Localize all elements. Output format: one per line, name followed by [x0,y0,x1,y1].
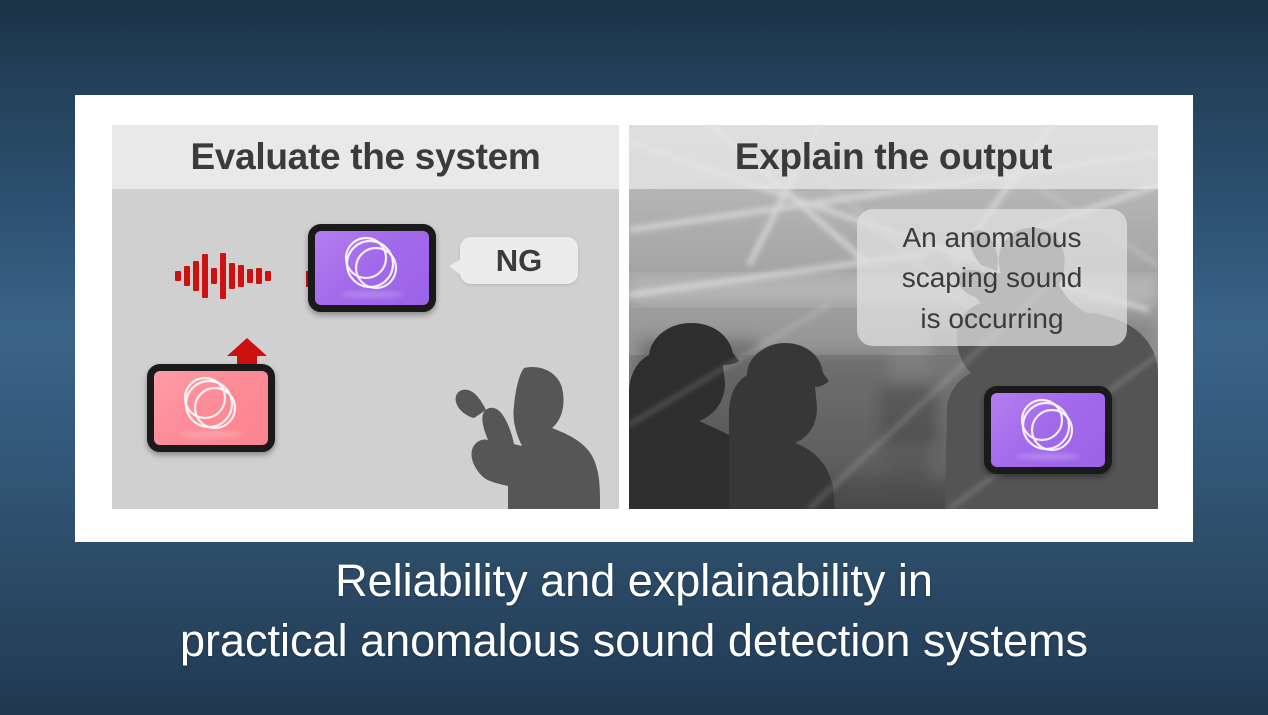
panel-container: Evaluate the system [112,125,1158,509]
caption-line-2: practical anomalous sound detection syst… [0,611,1268,671]
waveform-bar-3 [193,261,199,291]
tablet-screen [315,231,429,305]
evaluate-model-tablet[interactable] [308,224,436,312]
waveform-bar-8 [238,265,244,287]
waveform-bar-11 [265,271,271,281]
panel-right-title: Explain the output [735,136,1052,178]
waveform-bar-6 [220,253,226,299]
panel-right-header: Explain the output [629,125,1158,189]
anomaly-model-logo-icon [336,231,408,300]
panel-left-title: Evaluate the system [190,136,540,178]
anomaly-model-logo-icon [175,371,247,440]
waveform-bar-9 [247,269,253,283]
waveform-bar-1 [175,271,181,281]
explanation-line-2: scaping sound [902,258,1083,298]
waveform-bar-5 [211,268,217,284]
waveform-bar-4 [202,254,208,298]
explanation-line-3: is occurring [920,299,1063,339]
person-silhouette-icon [412,358,602,509]
anomaly-model-logo-icon [1012,393,1084,462]
panel-evaluate-the-system: Evaluate the system [112,125,619,509]
explain-model-tablet[interactable] [984,386,1112,474]
waveform-bar-7 [229,263,235,289]
audio-waveform-icon [175,253,271,299]
waveform-bar-2 [184,266,190,286]
verdict-label: NG [496,243,543,279]
caption-line-1: Reliability and explainability in [0,551,1268,611]
panel-explain-the-output: Explain the output An anomalous scaping … [629,125,1158,509]
explanation-speech-bubble: An anomalous scaping sound is occurring [857,209,1127,346]
explanation-line-1: An anomalous [902,218,1081,258]
input-data-tablet[interactable] [147,364,275,452]
slide-frame: Evaluate the system [75,95,1193,542]
panel-left-header: Evaluate the system [112,125,619,189]
slide-caption: Reliability and explainability in practi… [0,551,1268,671]
tablet-screen [154,371,268,445]
verdict-speech-bubble: NG [460,237,578,284]
waveform-bar-10 [256,268,262,284]
tablet-screen [991,393,1105,467]
